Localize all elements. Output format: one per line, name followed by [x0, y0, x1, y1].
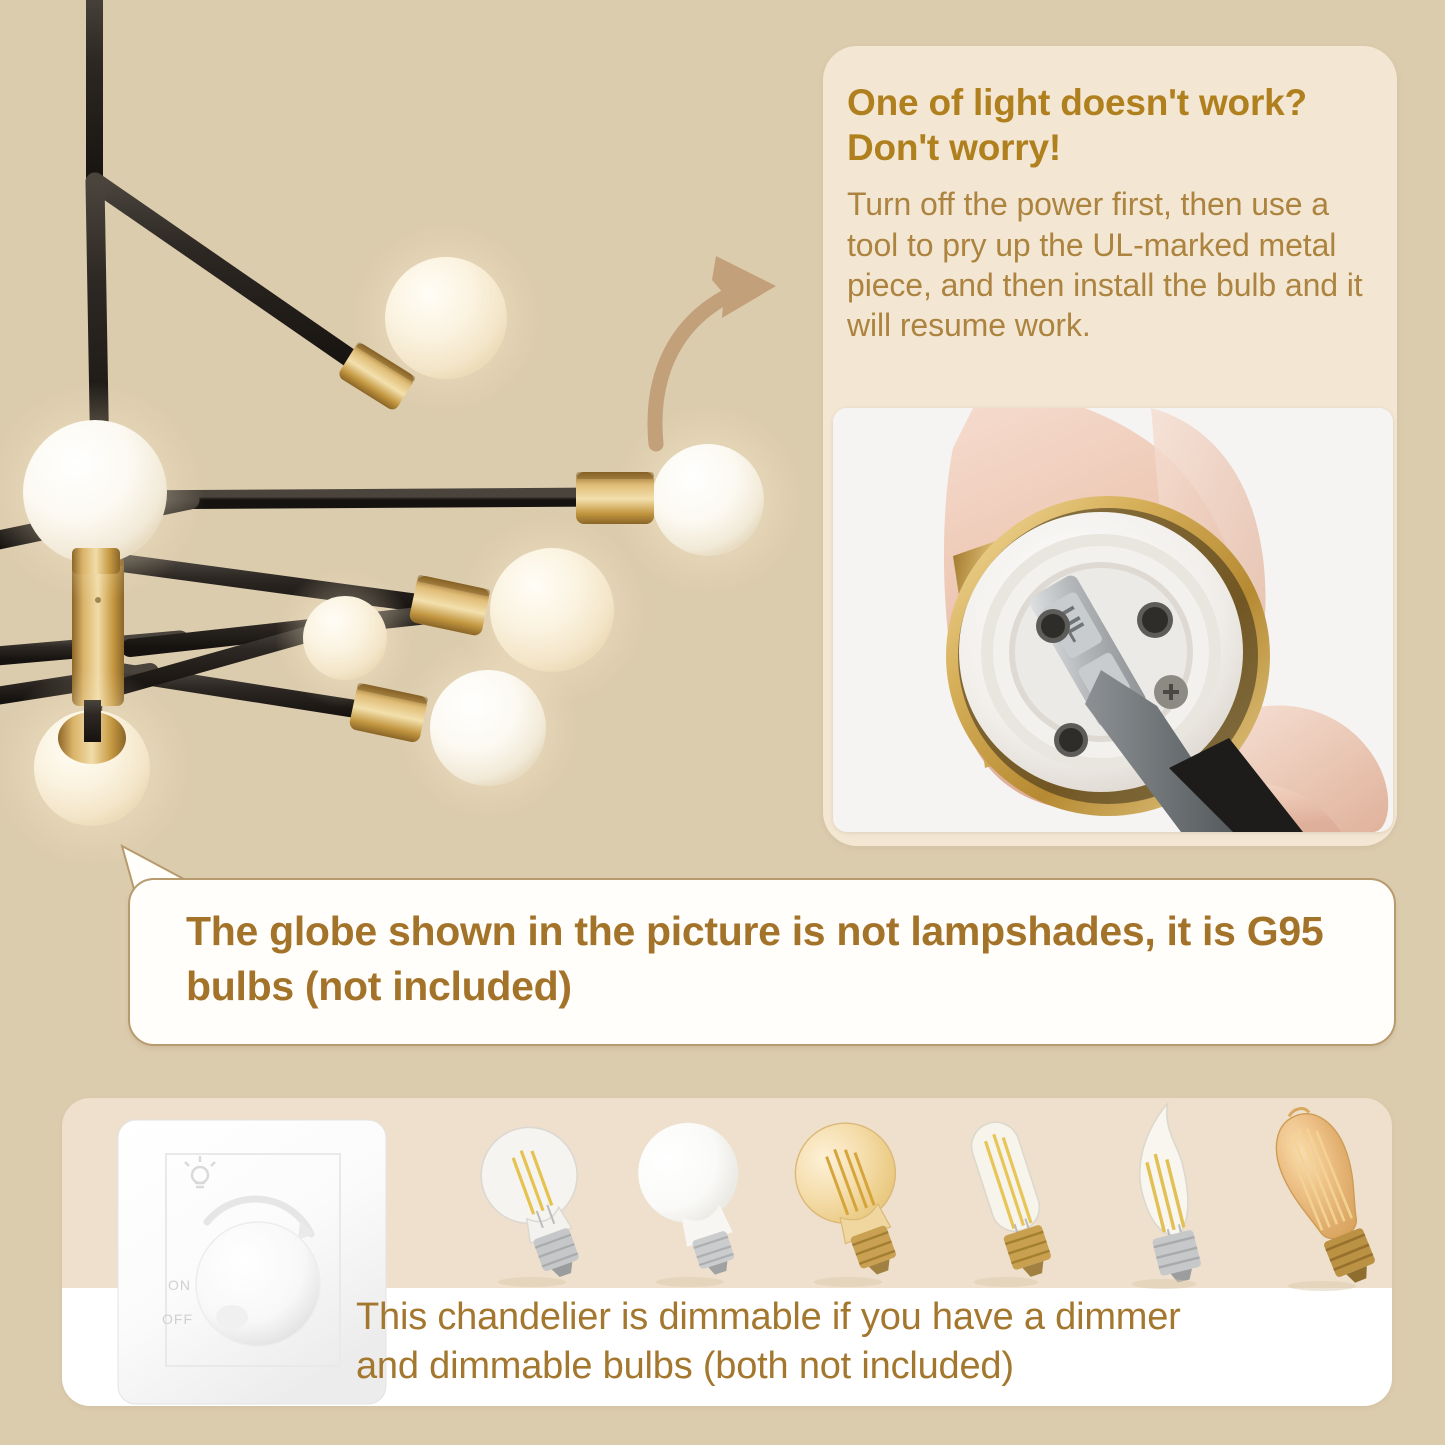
bulb-globe-clear-filament: [462, 1102, 612, 1292]
bulb-edison-st64-vintage: [1252, 1102, 1392, 1292]
bulb-candle-flame-tip: [1094, 1102, 1244, 1292]
compatible-bulbs-row: [462, 1102, 1392, 1292]
troubleshooting-panel: One of light doesn't work? Don't worry! …: [823, 46, 1397, 846]
globe-notice-text: The globe shown in the picture is not la…: [186, 904, 1374, 1013]
dimmer-label-on: ON: [168, 1277, 191, 1293]
globe-bulb: [396, 636, 580, 820]
dimmer-label-off: OFF: [162, 1311, 193, 1327]
dimmable-note-text: This chandelier is dimmable if you have …: [356, 1293, 1392, 1392]
panel-body: Turn off the power first, then use a too…: [847, 184, 1367, 345]
infographic-stage: One of light doesn't work? Don't worry! …: [0, 0, 1445, 1445]
curved-arrow-icon: [612, 232, 842, 462]
bulb-tube-t45-filament: [936, 1102, 1086, 1292]
dimmer-knob: [196, 1222, 320, 1346]
brass-socket: [576, 472, 654, 524]
bulb-globe-amber-filament: [778, 1102, 928, 1292]
globe-notice-bubble: The globe shown in the picture is not la…: [128, 878, 1396, 1046]
knob-pointer: [216, 1305, 248, 1329]
globe-bulb: [275, 568, 415, 708]
panel-title: One of light doesn't work? Don't worry!: [847, 80, 1367, 170]
ceiling-rod: [86, 0, 103, 190]
brass-socket: [72, 548, 120, 574]
socket-repair-photo: UL: [833, 408, 1393, 832]
bulb-globe-milky-opal: [620, 1102, 770, 1292]
